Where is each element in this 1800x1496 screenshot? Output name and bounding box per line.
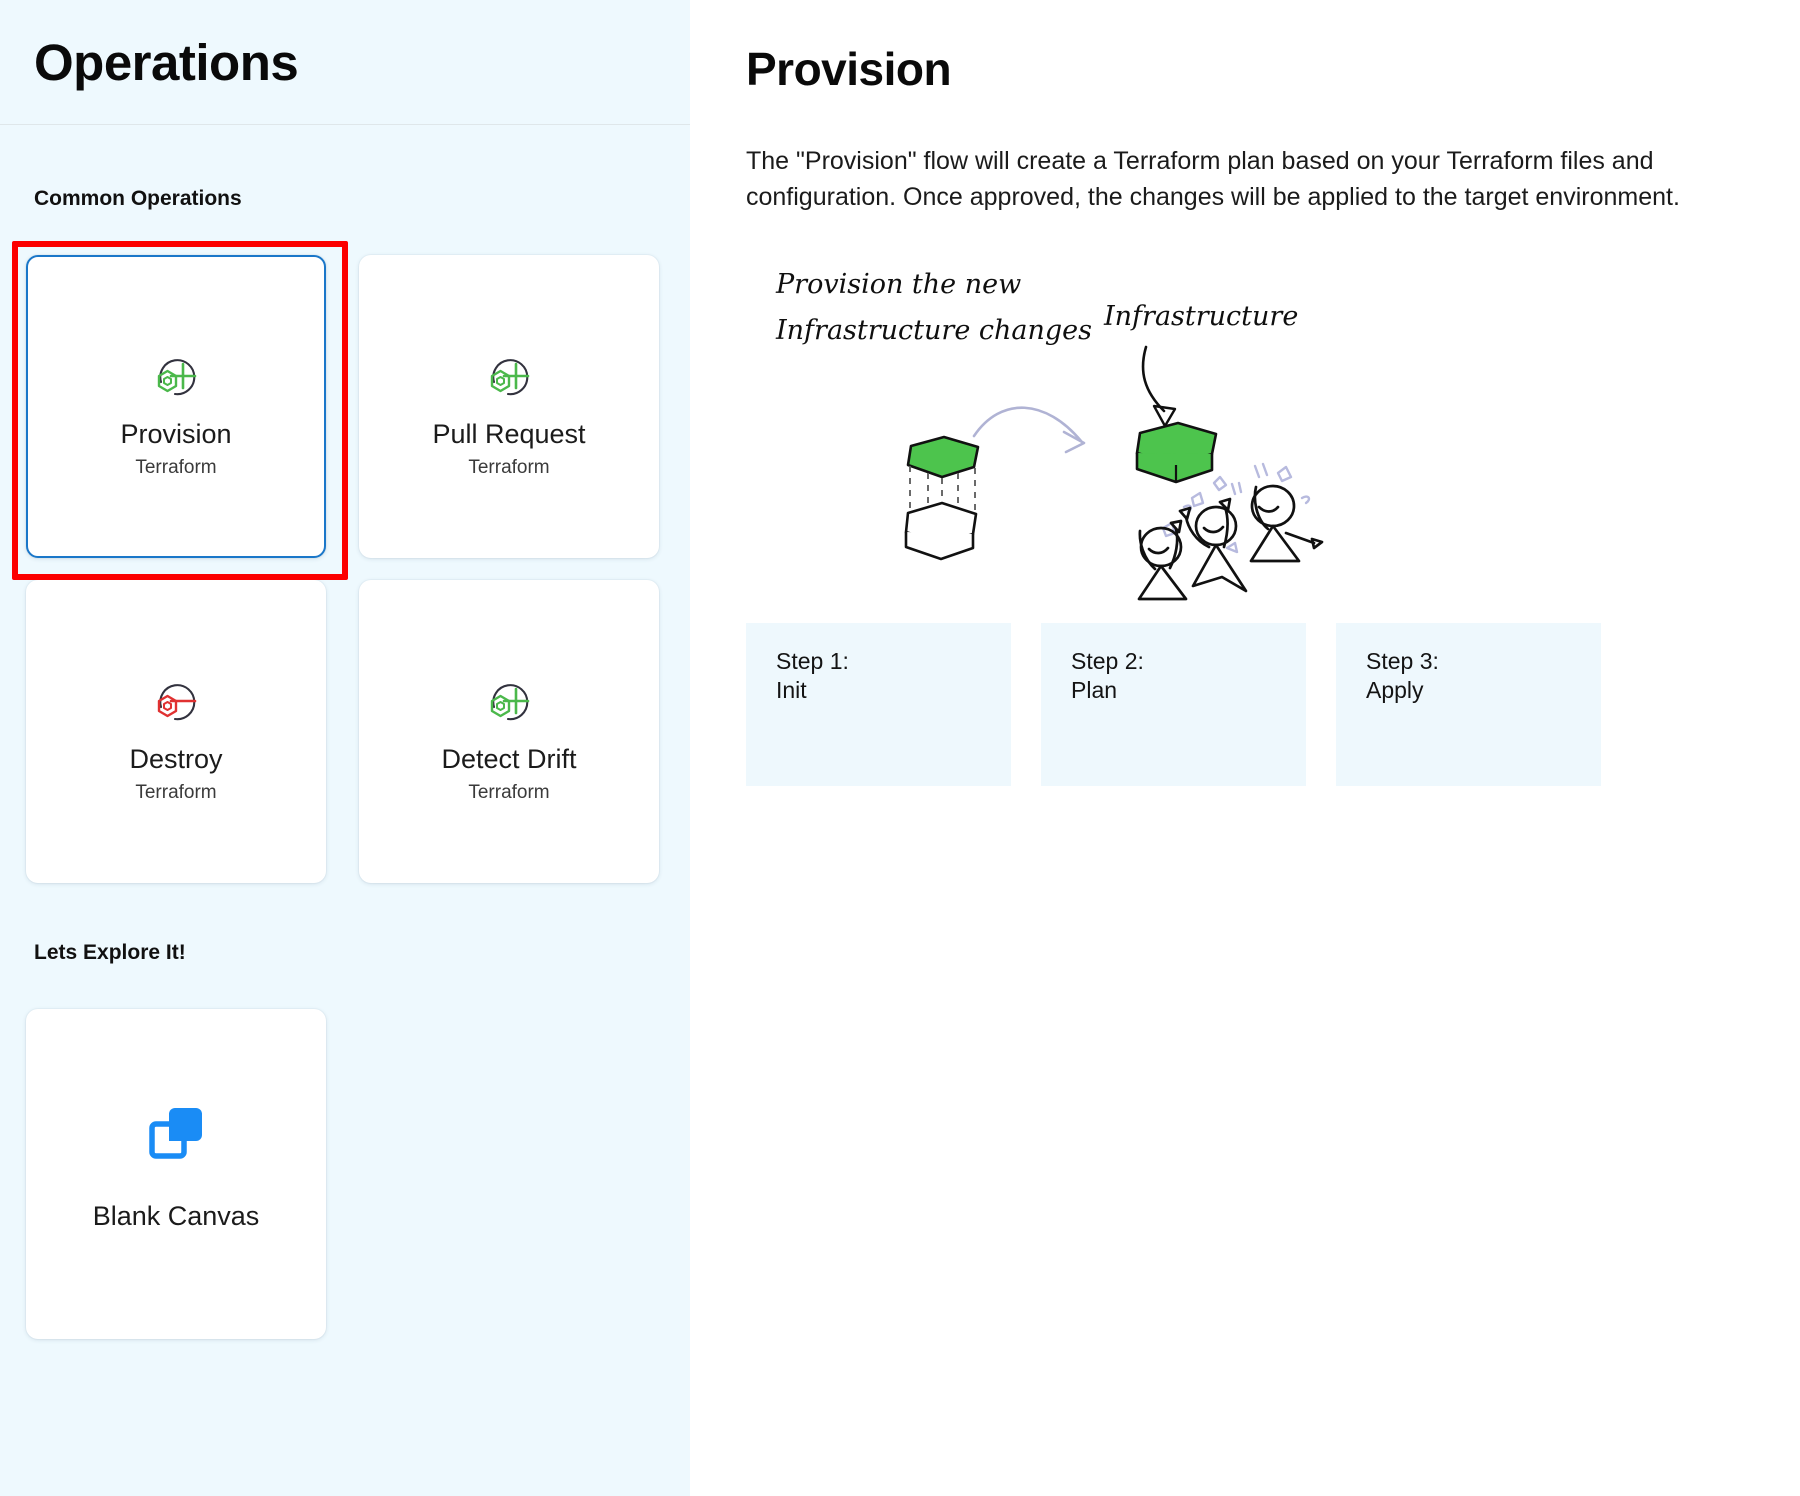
- step-label: Step 1:: [776, 647, 1011, 676]
- flow-step-2: Step 2: Plan: [1041, 623, 1306, 786]
- section-label-lets-explore-it: Lets Explore It!: [0, 883, 690, 965]
- operation-detail-panel: Provision The "Provision" flow will crea…: [690, 0, 1800, 1496]
- flow-step-3: Step 3: Apply: [1336, 623, 1601, 786]
- operations-page: Operations Common Operations Provision T…: [0, 0, 1800, 1496]
- operation-card-destroy[interactable]: Destroy Terraform: [26, 580, 326, 883]
- blank-canvas-icon: [143, 1101, 209, 1167]
- page-title: Operations: [34, 33, 298, 92]
- operation-card-title: Blank Canvas: [93, 1201, 260, 1232]
- operation-card-subtitle: Terraform: [468, 457, 549, 479]
- operation-card-subtitle: Terraform: [135, 782, 216, 804]
- common-operations-grid: Provision Terraform Pull Request Terrafo…: [0, 211, 690, 883]
- step-name: Init: [776, 676, 1011, 705]
- step-name: Plan: [1071, 676, 1306, 705]
- provision-flow-illustration: Provision the new Infrastructure changes…: [746, 251, 1546, 601]
- hexagon-plus-icon: [478, 670, 540, 732]
- flow-steps: Step 1: Init Step 2: Plan Step 3: Apply: [746, 623, 1740, 786]
- annotation-left-line2: Infrastructure changes: [775, 315, 1092, 346]
- step-label: Step 2:: [1071, 647, 1306, 676]
- operation-card-subtitle: Terraform: [468, 782, 549, 804]
- selection-highlight-box: [12, 241, 348, 580]
- operation-card-subtitle: Terraform: [135, 457, 216, 479]
- sidebar-header: Operations: [0, 0, 690, 125]
- step-label: Step 3:: [1366, 647, 1601, 676]
- detail-description: The "Provision" flow will create a Terra…: [746, 144, 1740, 215]
- operation-card-title: Destroy: [129, 744, 222, 775]
- step-name: Apply: [1366, 676, 1601, 705]
- hexagon-minus-icon: [145, 670, 207, 732]
- flow-step-1: Step 1: Init: [746, 623, 1011, 786]
- hexagon-plus-icon: [145, 345, 207, 407]
- detail-title: Provision: [746, 42, 1740, 96]
- section-label-common-operations: Common Operations: [0, 125, 690, 211]
- annotation-right: Infrastructure: [1103, 301, 1298, 332]
- operation-card-pull-request[interactable]: Pull Request Terraform: [359, 255, 659, 558]
- hexagon-plus-icon: [478, 345, 540, 407]
- operation-card-title: Detect Drift: [441, 744, 576, 775]
- operation-card-title: Pull Request: [432, 419, 585, 450]
- explore-grid: Blank Canvas: [0, 965, 690, 1339]
- annotation-left-line1: Provision the new: [775, 269, 1021, 300]
- operation-card-provision[interactable]: Provision Terraform: [26, 255, 326, 558]
- operation-card-detect-drift[interactable]: Detect Drift Terraform: [359, 580, 659, 883]
- operations-sidebar: Operations Common Operations Provision T…: [0, 0, 690, 1496]
- operation-card-title: Provision: [120, 419, 231, 450]
- operation-card-blank-canvas[interactable]: Blank Canvas: [26, 1009, 326, 1339]
